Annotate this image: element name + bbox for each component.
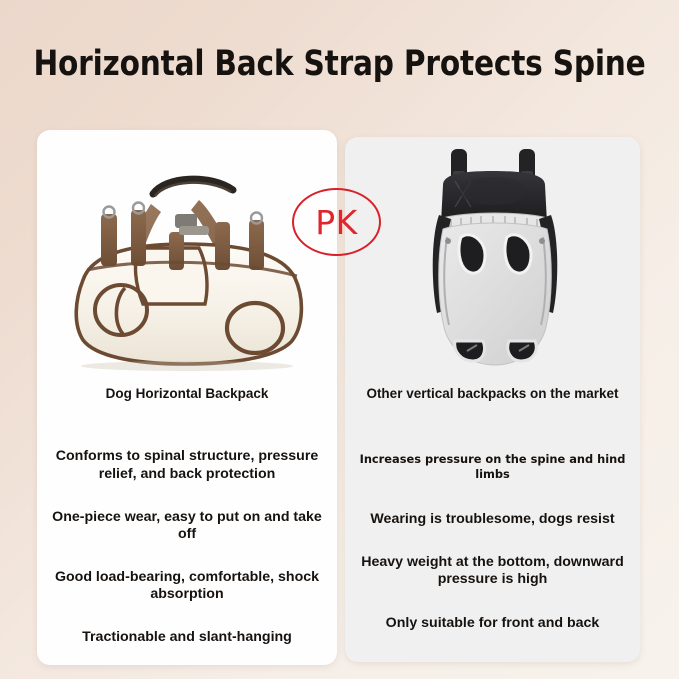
feature-item: Increases pressure on the spine and hind… — [345, 452, 640, 481]
product-image-horizontal-backpack — [47, 152, 327, 372]
feature-item: Wearing is troublesome, dogs resist — [345, 511, 640, 528]
feature-item: Only suitable for front and back — [345, 615, 640, 632]
feature-list-right: Other vertical backpacks on the market I… — [345, 386, 640, 632]
feature-list-left: Dog Horizontal Backpack Conforms to spin… — [37, 386, 337, 647]
pk-versus-badge: PK — [292, 188, 381, 256]
product-heading-left: Dog Horizontal Backpack — [37, 386, 337, 402]
feature-item: Good load-bearing, comfortable, shock ab… — [37, 569, 337, 603]
feature-item: Heavy weight at the bottom, downward pre… — [345, 554, 640, 588]
product-image-vertical-carrier — [415, 145, 575, 375]
feature-item: Tractionable and slant-hanging — [37, 629, 337, 646]
feature-item: One-piece wear, easy to put on and take … — [37, 509, 337, 543]
pk-label: PK — [315, 206, 358, 239]
feature-item: Conforms to spinal structure, pressure r… — [37, 448, 337, 482]
product-heading-right: Other vertical backpacks on the market — [345, 386, 640, 402]
page-title: Horizontal Back Strap Protects Spine — [20, 44, 658, 84]
